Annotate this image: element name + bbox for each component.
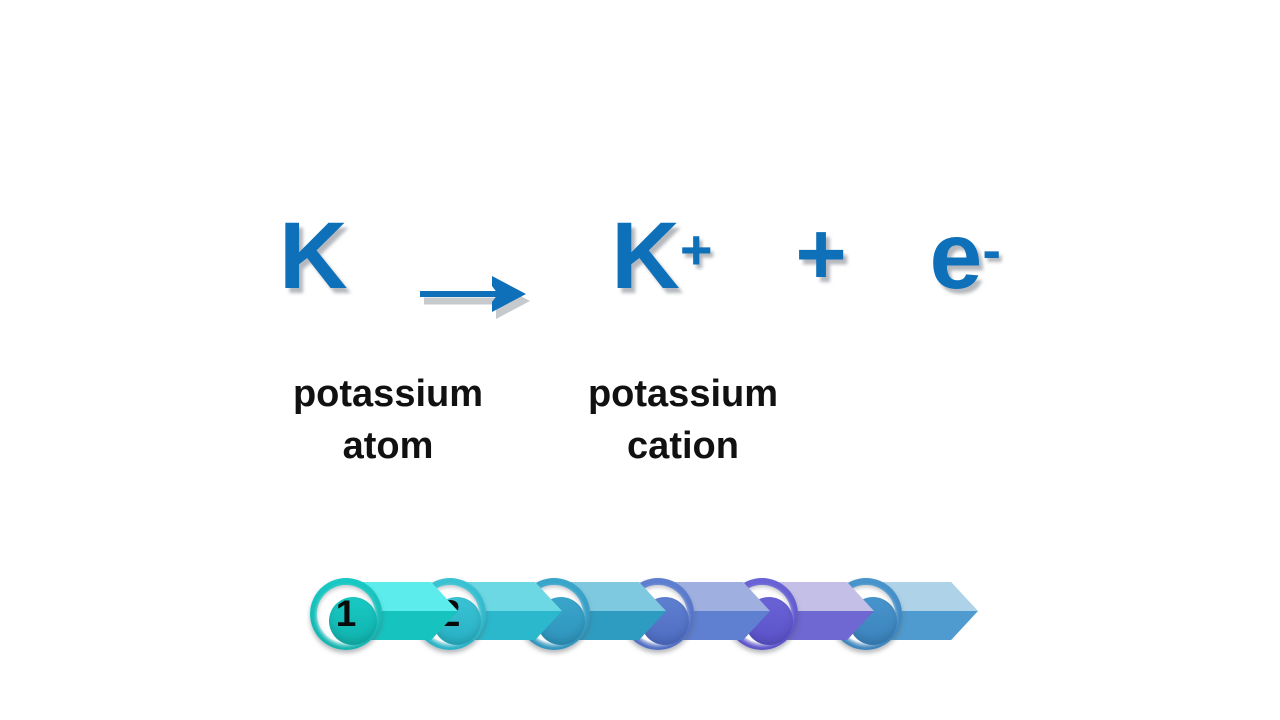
reactant-symbol: K	[279, 196, 348, 316]
product-caption: potassium cation	[528, 368, 838, 472]
plus-operator: +	[795, 194, 846, 314]
reactant-caption: potassium atom	[233, 368, 543, 472]
slide-canvas: K K+ + e- potassium atom potassium catio…	[0, 0, 1280, 720]
chemical-equation: K K+ + e-	[0, 196, 1280, 318]
step-node-1[interactable]: 1	[310, 578, 382, 650]
step-item-1[interactable]: 1	[310, 570, 470, 660]
electron-symbol: e	[930, 196, 983, 316]
step-progress-strip: 12	[310, 570, 950, 660]
step-number-label-1: 1	[310, 578, 382, 650]
right-arrow-icon	[420, 236, 538, 298]
product-symbol: K	[611, 196, 680, 316]
product-charge-superscript: +	[680, 190, 713, 310]
electron-charge-superscript: -	[982, 190, 1001, 310]
